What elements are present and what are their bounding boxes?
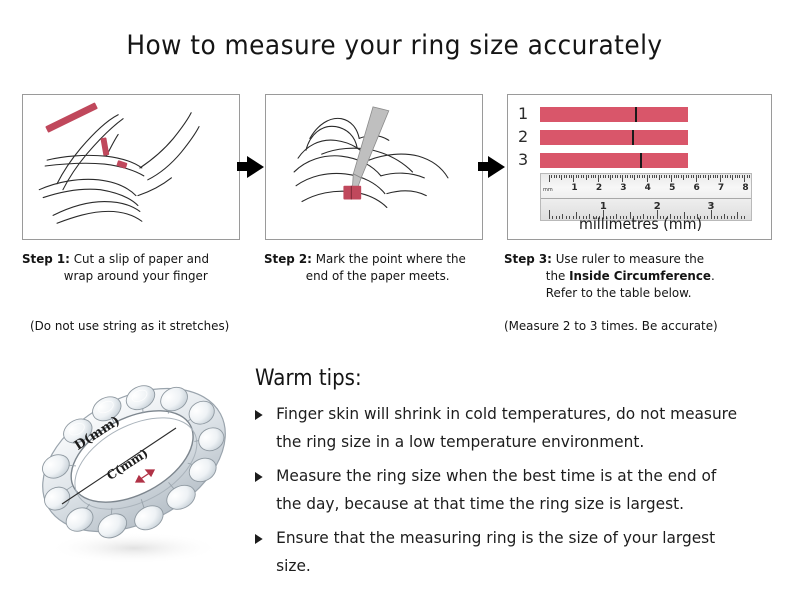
warm-tip-item: Measure the ring size when the best time… (255, 462, 745, 518)
warm-tip-text: Measure the ring size when the best time… (276, 466, 716, 513)
ruler-cm-number: 3 (620, 183, 626, 193)
step-2-illustration-panel (265, 94, 483, 240)
ruler-cm-number: 1 (571, 183, 577, 193)
step-1-label: Step 1: (22, 251, 70, 266)
step-1-note: (Do not use string as it stretches) (30, 318, 229, 333)
hand-marking-paper-with-pen-drawing (266, 95, 482, 239)
step-2-caption: Step 2: Mark the point where the end of … (264, 250, 484, 284)
step-1-text-line1: Cut a slip of paper and (74, 251, 209, 266)
step-3-label: Step 3: (504, 251, 552, 266)
warm-tip-item: Finger skin will shrink in cold temperat… (255, 400, 745, 456)
step-3-text-line2: the Inside Circumference. (504, 267, 761, 284)
strip-number-2: 2 (518, 127, 534, 146)
step-2-text-line2: end of the paper meets. (264, 267, 484, 284)
strip-bar-1 (540, 107, 688, 122)
strip-bar-2 (540, 130, 688, 145)
triangle-bullet-icon (255, 534, 263, 544)
ruler-midline (541, 198, 751, 199)
step-3-text-line1: Use ruler to measure the (556, 251, 704, 266)
steps-row: 1 2 3 mm 12345678 123 millimetres (mm (22, 94, 772, 240)
strip-tick-3 (640, 153, 642, 168)
strip-bar-3 (540, 153, 688, 168)
step-2-text-line1: Mark the point where the (316, 251, 466, 266)
warm-tips-heading: Warm tips: (255, 366, 362, 391)
ruler-graphic: mm 12345678 123 (540, 173, 752, 221)
step-3-line2-tail: . (711, 268, 715, 283)
page-title: How to measure your ring size accurately (32, 30, 758, 61)
warm-tip-text: Ensure that the measuring ring is the si… (276, 528, 715, 575)
step-3-inside-circumference-emphasis: Inside Circumference (569, 268, 711, 283)
ruler-cm-number: 4 (645, 183, 651, 193)
step-1-illustration-panel (22, 94, 240, 240)
strip-number-1: 1 (518, 104, 534, 123)
ruler-cm-number: 6 (694, 183, 700, 193)
warm-tip-text: Finger skin will shrink in cold temperat… (276, 404, 737, 451)
ruler-cm-number: 5 (669, 183, 675, 193)
step-3-text-line3: Refer to the table below. (504, 284, 761, 301)
ruler-inch-number: 2 (654, 201, 661, 212)
ruler-inch-number: 1 (600, 201, 607, 212)
step-3-line2-prefix: the (546, 268, 569, 283)
ruler-cm-number: 8 (742, 183, 748, 193)
ruler-inch-number: 3 (708, 201, 715, 212)
strip-tick-1 (635, 107, 637, 122)
step-1-text-line2: wrap around your finger (22, 267, 241, 284)
triangle-bullet-icon (255, 472, 263, 482)
ruler-cm-number: 2 (596, 183, 602, 193)
step-1-caption: Step 1: Cut a slip of paper and wrap aro… (22, 250, 241, 284)
step-arrow-2-to-3 (488, 156, 505, 178)
step-3-caption: Step 3: Use ruler to measure the the Ins… (504, 250, 761, 301)
triangle-bullet-icon (255, 410, 263, 420)
step-arrow-1-to-2 (247, 156, 264, 178)
warm-tips-list: Finger skin will shrink in cold temperat… (255, 400, 765, 586)
step-3-measurement-panel: 1 2 3 mm 12345678 123 millimetres (mm (507, 94, 772, 240)
ruler-cm-number: 7 (718, 183, 724, 193)
ruler-unit-label: millimetres (mm) (515, 215, 767, 233)
ruler-unit-mark: mm (543, 187, 553, 193)
step-3-note: (Measure 2 to 3 times. Be accurate) (504, 318, 718, 333)
strip-tick-2 (632, 130, 634, 145)
step-2-label: Step 2: (264, 251, 312, 266)
hand-with-paper-slip-drawing (23, 95, 239, 239)
warm-tip-item: Ensure that the measuring ring is the si… (255, 524, 745, 580)
strip-number-3: 3 (518, 150, 534, 169)
